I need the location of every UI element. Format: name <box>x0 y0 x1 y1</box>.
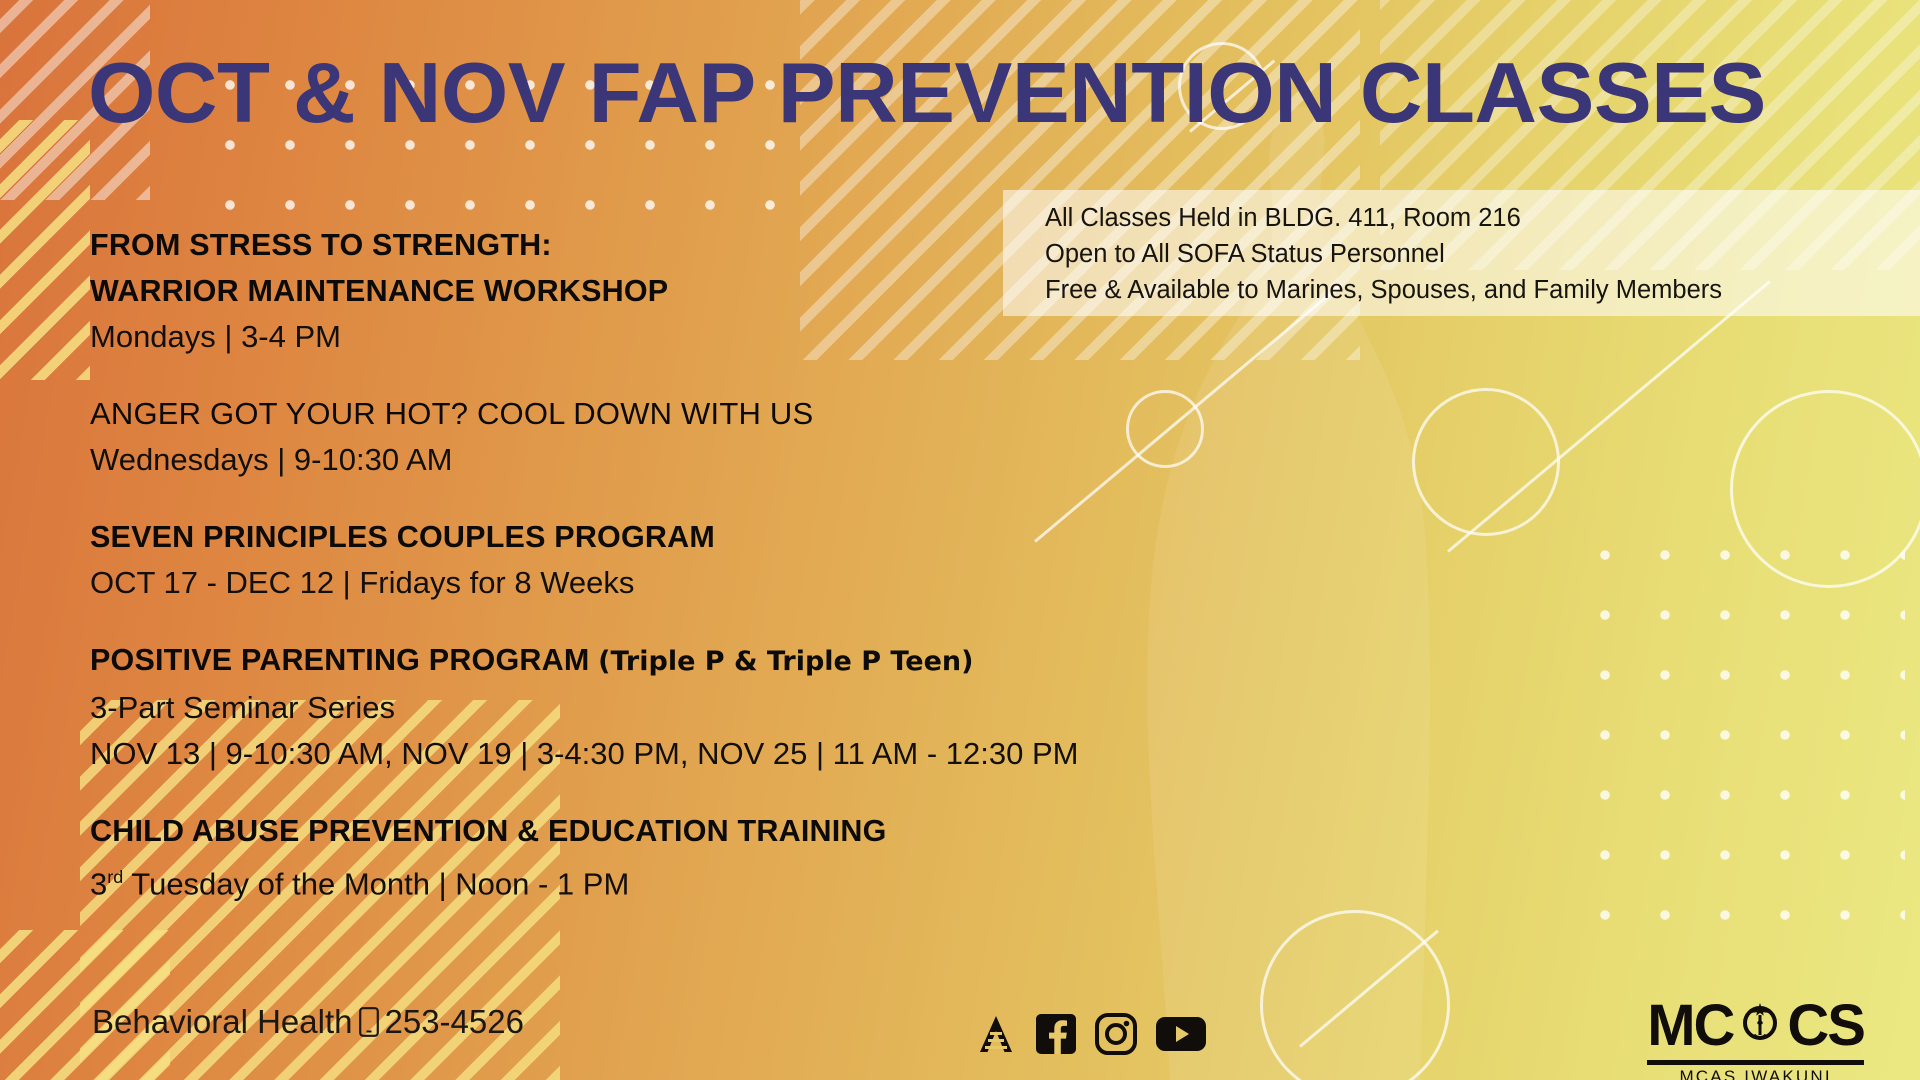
class-item-positive-parenting: POSITIVE PARENTING PROGRAM (Triple P & T… <box>90 637 1250 777</box>
eagle-globe-anchor-icon <box>1734 995 1786 1057</box>
class-list: FROM STRESS TO STRENGTH: WARRIOR MAINTEN… <box>90 222 1250 907</box>
class-title-line1: FROM STRESS TO STRENGTH: <box>90 222 1250 268</box>
schedule-rest: Tuesday of the Month | Noon - 1 PM <box>123 866 629 901</box>
class-item-stress-to-strength: FROM STRESS TO STRENGTH: WARRIOR MAINTEN… <box>90 222 1250 360</box>
class-schedule: Wednesdays | 9-10:30 AM <box>90 437 1250 483</box>
class-item-child-abuse-prevention: CHILD ABUSE PREVENTION & EDUCATION TRAIN… <box>90 808 1250 907</box>
poster-canvas: OCT & NOV FAP PREVENTION CLASSES All Cla… <box>0 0 1920 1080</box>
mccs-logo: MC CS MCAS IWAKUNI <box>1647 995 1864 1080</box>
circle-outline-mid <box>1412 388 1560 536</box>
logo-divider <box>1647 1060 1864 1065</box>
class-item-seven-principles: SEVEN PRINCIPLES COUPLES PROGRAM OCT 17 … <box>90 514 1250 606</box>
ordinal-suffix: rd <box>107 867 123 887</box>
class-title-line2: WARRIOR MAINTENANCE WORKSHOP <box>90 268 1250 314</box>
class-title-line1: CHILD ABUSE PREVENTION & EDUCATION TRAIN… <box>90 808 1250 854</box>
class-schedule-series: 3-Part Seminar Series <box>90 685 1250 731</box>
class-title-parenthetical: (Triple P & Triple P Teen) <box>598 646 973 677</box>
mobile-phone-icon <box>359 1007 379 1037</box>
circle-outline-right <box>1730 390 1920 588</box>
class-schedule: OCT 17 - DEC 12 | Fridays for 8 Weeks <box>90 560 1250 606</box>
youtube-icon[interactable] <box>1155 1014 1207 1054</box>
class-title-line1: ANGER GOT YOUR HOT? COOL DOWN WITH US <box>90 391 1250 437</box>
class-title-line1: SEVEN PRINCIPLES COUPLES PROGRAM <box>90 514 1250 560</box>
contact-info: Behavioral Health 253-4526 <box>92 1003 524 1041</box>
mccs-text-right: CS <box>1787 997 1864 1055</box>
contact-phone-number: 253-4526 <box>385 1003 524 1041</box>
class-schedule: Mondays | 3-4 PM <box>90 314 1250 360</box>
ordinal-number: 3 <box>90 866 107 901</box>
class-schedule-dates: NOV 13 | 9-10:30 AM, NOV 19 | 3-4:30 PM,… <box>90 731 1250 777</box>
logo-subtitle: MCAS IWAKUNI <box>1647 1067 1864 1080</box>
class-title-main: POSITIVE PARENTING PROGRAM <box>90 643 598 677</box>
class-schedule: 3rd Tuesday of the Month | Noon - 1 PM <box>90 854 1250 907</box>
mccs-text-left: MC <box>1647 997 1733 1055</box>
class-item-anger-management: ANGER GOT YOUR HOT? COOL DOWN WITH US We… <box>90 391 1250 483</box>
social-icons <box>975 1013 1207 1055</box>
mccs-a-icon[interactable] <box>975 1013 1017 1055</box>
contact-label: Behavioral Health <box>92 1003 353 1041</box>
facebook-icon[interactable] <box>1035 1013 1077 1055</box>
instagram-icon[interactable] <box>1095 1013 1137 1055</box>
class-title-line1: POSITIVE PARENTING PROGRAM (Triple P & T… <box>90 637 1250 685</box>
page-title: OCT & NOV FAP PREVENTION CLASSES <box>88 54 1766 135</box>
mccs-wordmark: MC CS <box>1647 995 1864 1057</box>
